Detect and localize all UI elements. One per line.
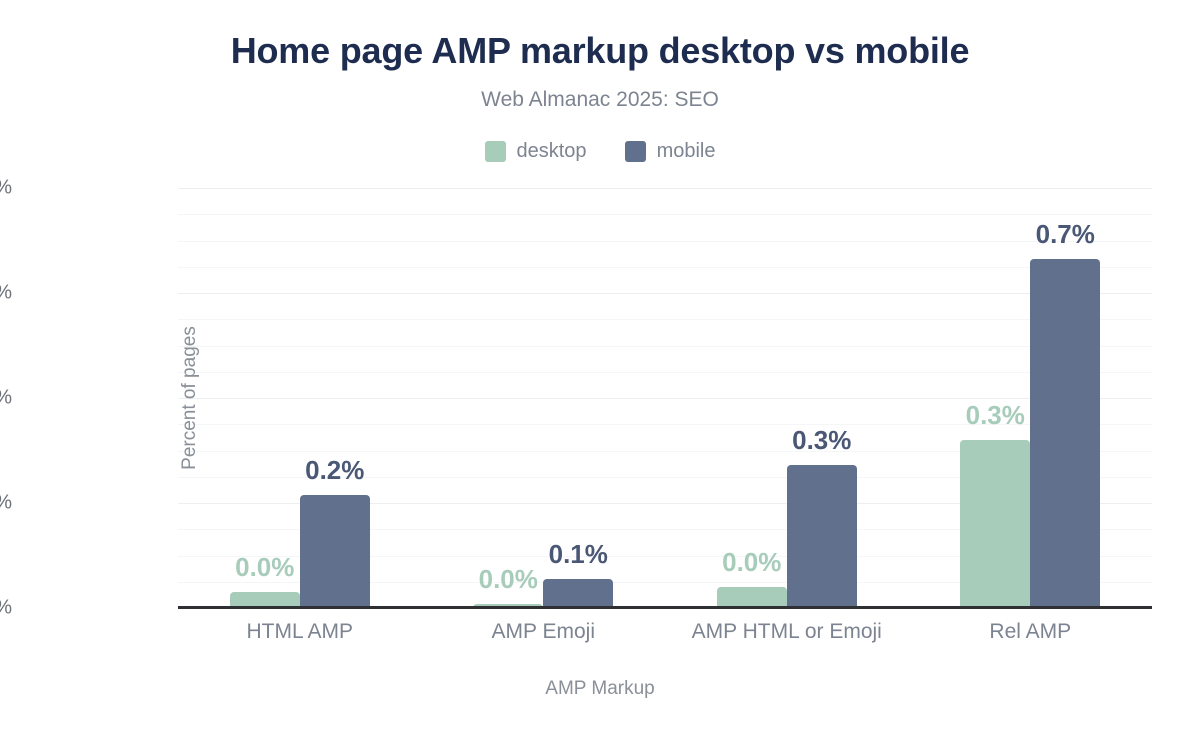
- bar-mobile-1[interactable]: [543, 579, 613, 608]
- x-axis-title: AMP Markup: [0, 678, 1200, 700]
- y-tick-label: 0.0%: [0, 597, 12, 620]
- legend-swatch-desktop: [485, 141, 506, 162]
- y-tick-label: 0.6%: [0, 282, 12, 305]
- legend-label-desktop: desktop: [517, 140, 587, 163]
- bar-mobile-3[interactable]: [1030, 259, 1100, 608]
- chart-subtitle: Web Almanac 2025: SEO: [0, 88, 1200, 112]
- y-axis-title: Percent of pages: [179, 268, 201, 528]
- bar-mobile-0[interactable]: [300, 495, 370, 608]
- y-tick-label: 0.4%: [0, 387, 12, 410]
- x-tick-label: AMP Emoji: [492, 620, 595, 644]
- x-tick-label: HTML AMP: [246, 620, 353, 644]
- bar-value-label-mobile-1: 0.1%: [549, 539, 608, 570]
- chart-title: Home page AMP markup desktop vs mobile: [0, 30, 1200, 72]
- bar-desktop-3[interactable]: [960, 440, 1030, 608]
- plot-area: 0.0%0.2%0.0%0.1%0.0%0.3%0.3%0.7% Percent…: [178, 188, 1152, 608]
- bar-value-label-mobile-3: 0.7%: [1036, 219, 1095, 250]
- bar-desktop-2[interactable]: [717, 587, 787, 608]
- bar-value-label-mobile-2: 0.3%: [792, 425, 851, 456]
- x-axis-baseline: [178, 606, 1152, 609]
- chart-container: Home page AMP markup desktop vs mobile W…: [0, 0, 1200, 742]
- x-tick-label: Rel AMP: [989, 620, 1071, 644]
- y-tick-label: 0.8%: [0, 177, 12, 200]
- legend-swatch-mobile: [625, 141, 646, 162]
- legend-item-desktop[interactable]: desktop: [485, 140, 587, 163]
- bar-value-label-desktop-1: 0.0%: [479, 564, 538, 595]
- bars-layer: 0.0%0.2%0.0%0.1%0.0%0.3%0.3%0.7%: [178, 188, 1152, 608]
- legend-item-mobile[interactable]: mobile: [625, 140, 716, 163]
- legend-label-mobile: mobile: [657, 140, 716, 163]
- bar-value-label-desktop-2: 0.0%: [722, 547, 781, 578]
- bar-value-label-mobile-0: 0.2%: [305, 455, 364, 486]
- x-tick-label: AMP HTML or Emoji: [692, 620, 882, 644]
- bar-value-label-desktop-0: 0.0%: [235, 552, 294, 583]
- chart-legend: desktopmobile: [0, 140, 1200, 163]
- y-tick-label: 0.2%: [0, 492, 12, 515]
- bar-value-label-desktop-3: 0.3%: [966, 400, 1025, 431]
- bar-mobile-2[interactable]: [787, 465, 857, 608]
